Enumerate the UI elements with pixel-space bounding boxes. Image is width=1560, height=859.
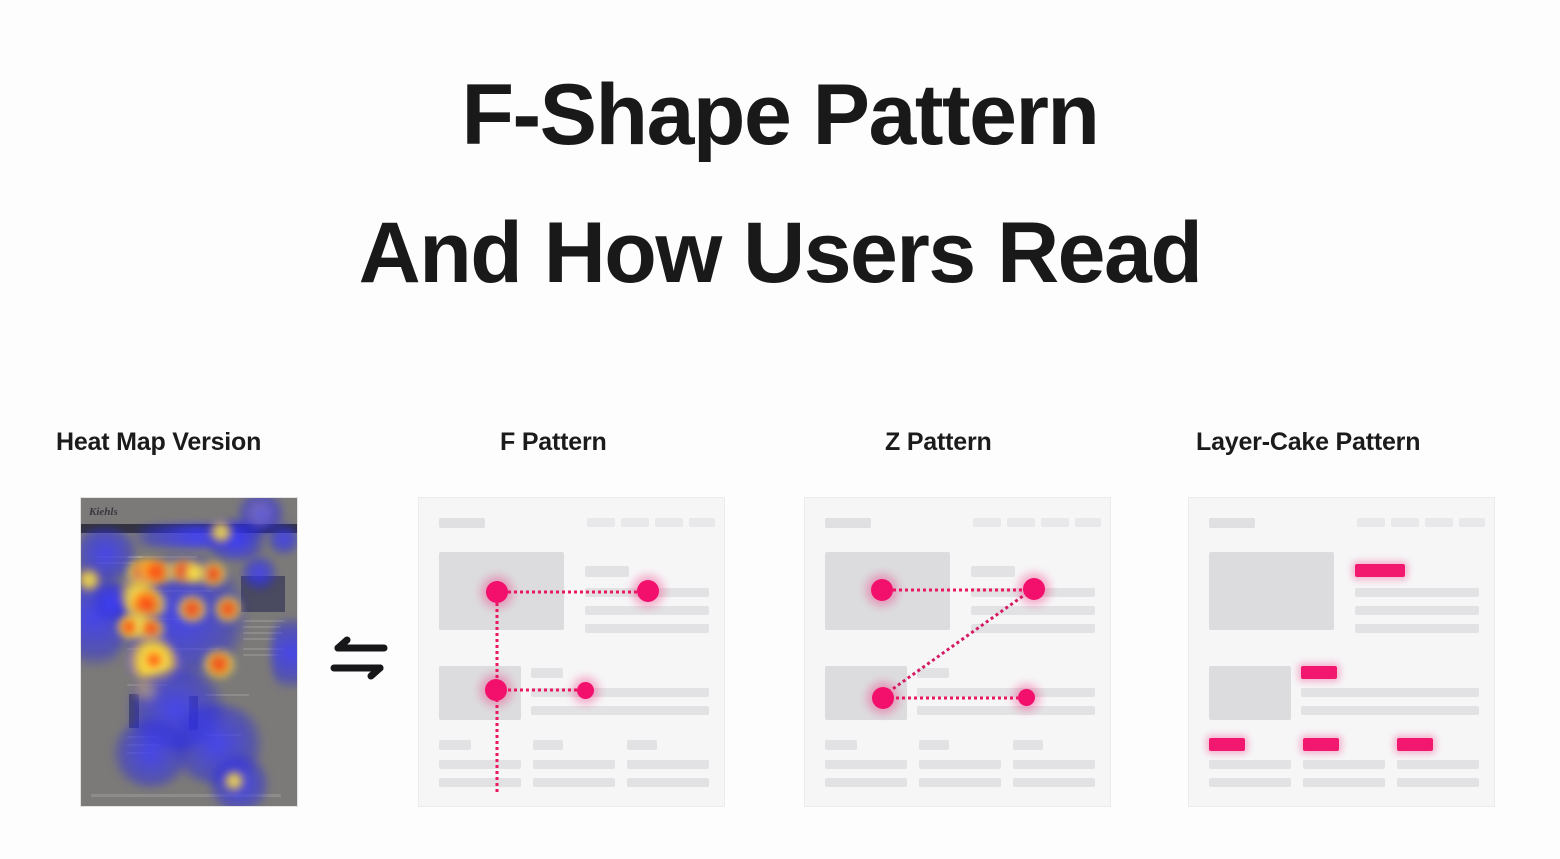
wireframe-nav-item <box>1459 518 1485 527</box>
wireframe-text-line <box>919 778 1001 787</box>
wireframe-column-heading <box>627 740 657 750</box>
wireframe-nav-item <box>655 518 683 527</box>
gaze-connector-top <box>882 589 1034 592</box>
title-line-2: And How Users Read <box>0 210 1560 298</box>
wireframe-nav-item <box>1075 518 1101 527</box>
wireframe-hero-heading <box>585 566 629 577</box>
wireframe-text-line <box>627 760 709 769</box>
wireframe-text-line <box>1013 760 1095 769</box>
highlighted-heading-second <box>1301 666 1337 679</box>
wireframe-column-heading <box>825 740 857 750</box>
heatmap-underlying-page: Kiehls <box>81 498 297 806</box>
highlighted-heading-col3 <box>1397 738 1433 751</box>
wireframe-text-line <box>917 706 1095 715</box>
gaze-point-end-mid-right <box>577 682 594 699</box>
gaze-point-end-bottom-right <box>1018 689 1035 706</box>
section-label-heat-map: Heat Map Version <box>56 428 261 457</box>
gaze-connector-top <box>497 591 649 594</box>
gaze-point-start-mid-left <box>485 679 507 701</box>
wireframe-nav-item <box>1425 518 1453 527</box>
wireframe-text-line <box>1303 778 1385 787</box>
wireframe-text-line <box>1397 778 1479 787</box>
wireframe-nav-item <box>587 518 615 527</box>
wireframe-text-line <box>1301 706 1479 715</box>
wireframe-text-line <box>533 760 615 769</box>
wireframe-text-line <box>533 778 615 787</box>
wireframe-text-line <box>1013 778 1095 787</box>
wireframe-text-line <box>1209 778 1291 787</box>
gaze-point-start-top-left <box>871 579 893 601</box>
z-pattern-wireframe <box>804 497 1111 807</box>
wireframe-nav-item <box>1391 518 1419 527</box>
highlighted-heading-col1 <box>1209 738 1245 751</box>
wireframe-text-line <box>825 778 907 787</box>
wireframe-secondary-image <box>439 666 521 720</box>
wireframe-secondary-image <box>1209 666 1291 720</box>
highlighted-heading-col2 <box>1303 738 1339 751</box>
wireframe-text-line <box>1397 760 1479 769</box>
wireframe-hero-heading <box>971 566 1015 577</box>
wireframe-column-heading <box>919 740 949 750</box>
wireframe-text-line <box>1303 760 1385 769</box>
wireframe-nav-item <box>621 518 649 527</box>
wireframe-text-line <box>1355 606 1479 615</box>
title-line-1: F-Shape Pattern <box>0 72 1560 160</box>
slide-canvas: F-Shape Pattern And How Users Read Heat … <box>0 0 1560 859</box>
wireframe-section-heading <box>531 668 563 678</box>
wireframe-text-line <box>971 624 1095 633</box>
page-title: F-Shape Pattern And How Users Read <box>0 72 1560 297</box>
section-label-layer-cake: Layer-Cake Pattern <box>1196 428 1420 457</box>
layer-cake-pattern-wireframe <box>1188 497 1495 807</box>
wireframe-logo <box>825 518 871 528</box>
wireframe-text-line <box>1301 688 1479 697</box>
wireframe-text-line <box>585 606 709 615</box>
gaze-point-end-top-right <box>637 580 659 602</box>
gaze-point-start-top-left <box>486 581 508 603</box>
wireframe-text-line <box>627 778 709 787</box>
wireframe-text-line <box>439 778 521 787</box>
highlighted-heading-hero <box>1355 564 1405 577</box>
wireframe-secondary-image <box>825 666 907 720</box>
wireframe-nav-item <box>973 518 1001 527</box>
wireframe-text-line <box>971 606 1095 615</box>
gaze-connector-middle <box>495 689 585 692</box>
wireframe-nav-item <box>1007 518 1035 527</box>
wireframe-text-line <box>1355 588 1479 597</box>
section-label-z-pattern: Z Pattern <box>885 428 992 457</box>
wireframe-column-heading <box>533 740 563 750</box>
heatmap-figure: Kiehls <box>80 497 298 807</box>
wireframe-text-line <box>1209 760 1291 769</box>
wireframe-logo <box>1209 518 1255 528</box>
wireframe-logo <box>439 518 485 528</box>
exchange-arrows-icon <box>326 634 392 686</box>
gaze-point-bottom-left <box>872 687 894 709</box>
wireframe-nav-item <box>1357 518 1385 527</box>
wireframe-text-line <box>825 760 907 769</box>
gaze-connector-bottom <box>883 697 1026 700</box>
wireframe-hero-image <box>1209 552 1334 630</box>
wireframe-column-heading <box>1013 740 1043 750</box>
wireframe-text-line <box>531 706 709 715</box>
wireframe-nav-item <box>1041 518 1069 527</box>
wireframe-text-line <box>1355 624 1479 633</box>
wireframe-text-line <box>585 624 709 633</box>
heatmap-site-logo: Kiehls <box>89 506 129 518</box>
wireframe-text-line <box>919 760 1001 769</box>
wireframe-nav-item <box>689 518 715 527</box>
section-label-f-pattern: F Pattern <box>500 428 607 457</box>
wireframe-text-line <box>439 760 521 769</box>
f-pattern-wireframe <box>418 497 725 807</box>
wireframe-column-heading <box>439 740 471 750</box>
gaze-point-top-right <box>1023 578 1045 600</box>
